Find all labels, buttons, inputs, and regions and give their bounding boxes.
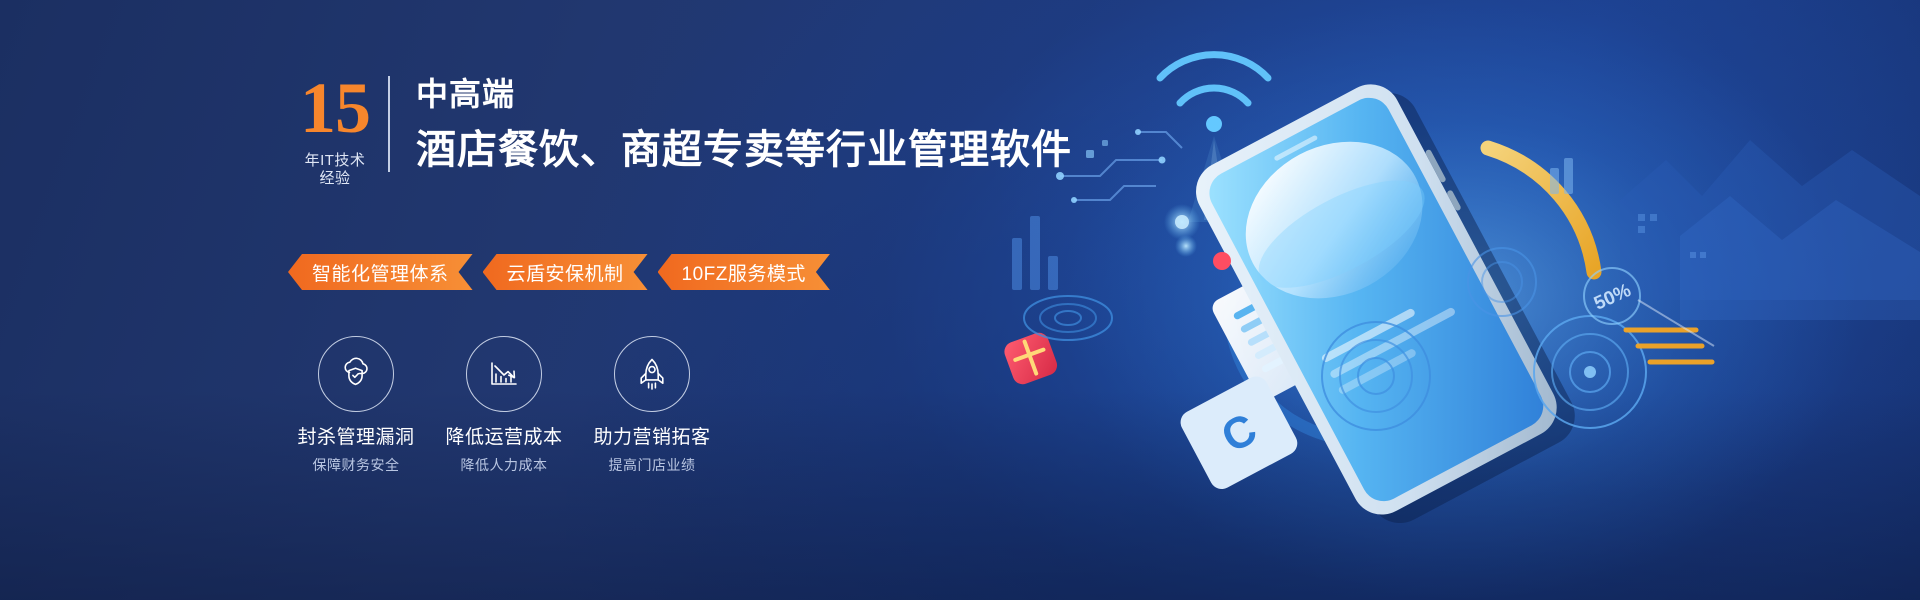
feature-item-1[interactable]: 封杀管理漏洞 保障财务安全 [282,336,430,474]
feature-icon-circle-3 [614,336,690,412]
headline-line-2: 酒店餐饮、商超专卖等行业管理软件 [416,126,1072,174]
feature-title-2: 降低运营成本 [430,426,578,450]
feature-list: 封杀管理漏洞 保障财务安全 降低运营成本 降低人力成本 [282,336,726,474]
feature-tag-2[interactable]: 云盾安保机制 [483,254,648,290]
feature-icon-circle-2 [466,336,542,412]
feature-tag-1-label: 智能化管理体系 [312,259,449,286]
feature-item-2[interactable]: 降低运营成本 降低人力成本 [430,336,578,474]
banner-copy: 15 年IT技术经验 中高端 酒店餐饮、商超专卖等行业管理软件 [300,72,1060,188]
promo-banner: C [0,0,1920,600]
feature-icon-circle-1 [318,336,394,412]
feature-tag-3[interactable]: 10FZ服务模式 [658,254,830,290]
feature-sub-3: 提高门店业绩 [578,456,726,474]
headline-line-1: 中高端 [416,74,1072,114]
feature-tag-1[interactable]: 智能化管理体系 [288,254,473,290]
feature-tag-list: 智能化管理体系 云盾安保机制 10FZ服务模式 [288,254,830,290]
declining-bar-chart-icon [484,354,524,394]
cloud-shield-check-icon [336,354,376,394]
years-number: 15 [300,72,370,144]
feature-tag-2-label: 云盾安保机制 [507,259,624,286]
feature-sub-2: 降低人力成本 [430,456,578,474]
years-label: 年IT技术经验 [300,152,370,188]
feature-title-1: 封杀管理漏洞 [282,426,430,450]
feature-sub-1: 保障财务安全 [282,456,430,474]
headline-titles: 中高端 酒店餐饮、商超专卖等行业管理软件 [390,72,1072,174]
years-experience-block: 15 年IT技术经验 [300,72,388,188]
rocket-icon [632,354,672,394]
hero-illustration: C [990,0,1920,600]
feature-tag-3-label: 10FZ服务模式 [682,259,806,286]
feature-item-3[interactable]: 助力营销拓客 提高门店业绩 [578,336,726,474]
headline-row: 15 年IT技术经验 中高端 酒店餐饮、商超专卖等行业管理软件 [300,72,1060,188]
feature-title-3: 助力营销拓客 [578,426,726,450]
